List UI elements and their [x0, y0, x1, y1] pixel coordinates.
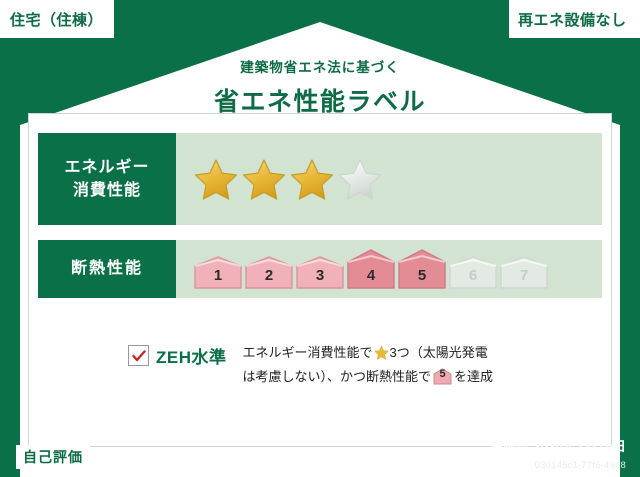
insulation-level-inline-badge: 5 — [433, 368, 452, 385]
star-icon-empty — [338, 158, 382, 200]
house-badge-icon — [500, 256, 548, 289]
insulation-performance-label-head: 断熱性能 — [38, 240, 176, 298]
title-subtitle: 建築物省エネ法に基づく — [0, 56, 640, 76]
zeh-desc-text-b: 3つ（太陽光発電 — [390, 345, 488, 360]
insulation-level-badge: 1 — [194, 256, 242, 289]
inline-badge-number: 5 — [433, 366, 452, 384]
building-type-tag: 住宅（住棟） — [0, 0, 114, 38]
insulation-level-badge: 2 — [245, 256, 293, 289]
insulation-level-badge: 7 — [500, 256, 548, 289]
zeh-standard-block: ZEH水準 エネルギー消費性能で3つ（太陽光発電 は考慮しない）、かつ断熱性能で… — [128, 342, 493, 387]
insulation-level-badges: 1234567 — [194, 249, 548, 289]
label-footer: 自己評価 高知県香美市土佐山田町楠目字大河内 評価日 2025年7月15日 03… — [0, 447, 640, 477]
zeh-desc-text-c: は考慮しない）、かつ断熱性能で — [243, 369, 432, 384]
evaluation-date: 評価日 2025年7月15日 — [489, 435, 626, 455]
document-id: 030145c1-77f6-4948 — [535, 460, 626, 471]
star-icon-filled — [290, 158, 334, 200]
insulation-performance-row: 断熱性能 1234567 — [38, 240, 602, 298]
property-address: 高知県香美市土佐山田町楠目字大河内 — [98, 448, 319, 467]
energy-head-line1: エネルギー — [64, 156, 149, 179]
self-evaluation-badge: 自己評価 — [16, 445, 90, 469]
zeh-desc-text-a: エネルギー消費性能で — [243, 345, 373, 360]
insulation-level-badge: 6 — [449, 256, 497, 289]
renewable-energy-tag: 再エネ設備なし — [509, 0, 640, 38]
star-icon — [374, 345, 389, 366]
label-title-block: 建築物省エネ法に基づく 省エネ性能ラベル — [0, 56, 640, 118]
energy-performance-row: エネルギー 消費性能 — [38, 133, 602, 225]
energy-performance-label-head: エネルギー 消費性能 — [38, 133, 176, 225]
zeh-checkbox[interactable] — [128, 345, 149, 366]
star-rating — [194, 158, 382, 200]
insulation-level-badge: 4 — [347, 249, 395, 289]
page-title: 省エネ性能ラベル — [0, 82, 640, 118]
energy-performance-label: 住宅（住棟） 再エネ設備なし 建築物省エネ法に基づく 省エネ性能ラベル エネルギ… — [0, 0, 640, 477]
zeh-desc-line-1: エネルギー消費性能で3つ（太陽光発電 — [243, 342, 494, 366]
zeh-desc-text-d: を達成 — [454, 369, 493, 384]
insulation-head-line1: 断熱性能 — [71, 257, 143, 280]
house-badge-icon — [398, 249, 446, 289]
house-badge-icon — [194, 256, 242, 289]
insulation-performance-rating: 1234567 — [176, 240, 602, 298]
house-badge-icon — [245, 256, 293, 289]
insulation-level-badge: 5 — [398, 249, 446, 289]
zeh-desc-line-2: は考慮しない）、かつ断熱性能で5を達成 — [243, 366, 494, 387]
star-icon-filled — [194, 158, 238, 200]
house-badge-icon — [347, 249, 395, 289]
zeh-standard-name: ZEH水準 — [156, 343, 227, 368]
energy-head-line2: 消費性能 — [73, 179, 141, 202]
house-badge-icon — [296, 256, 344, 289]
star-icon-filled — [242, 158, 286, 200]
check-icon — [132, 350, 146, 362]
insulation-level-badge: 3 — [296, 256, 344, 289]
zeh-standard-description: エネルギー消費性能で3つ（太陽光発電 は考慮しない）、かつ断熱性能で5を達成 — [243, 342, 494, 387]
house-badge-icon — [449, 256, 497, 289]
energy-performance-rating — [176, 133, 602, 225]
